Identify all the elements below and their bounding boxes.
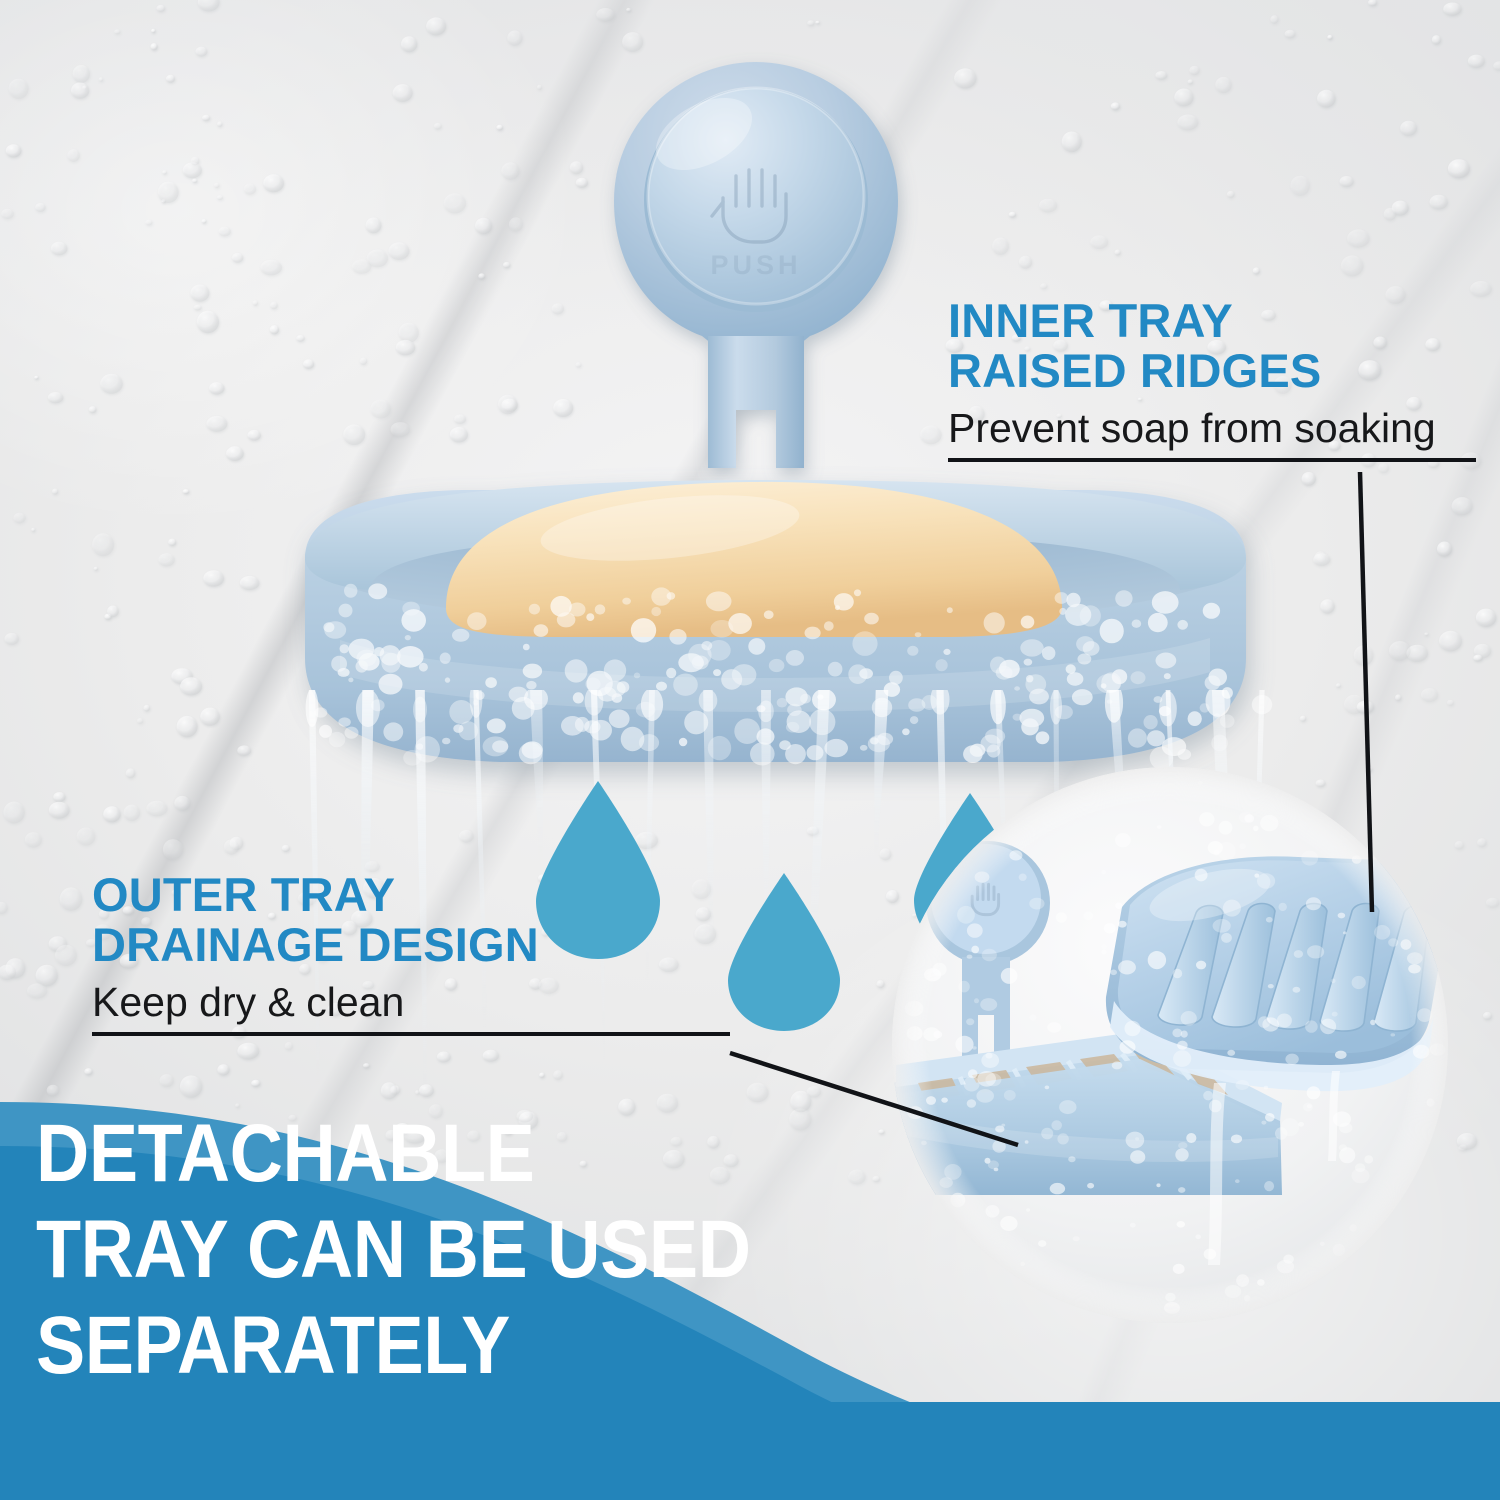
callout-outer-subtext: Keep dry & clean: [92, 978, 730, 1026]
water-drop-icon: [722, 868, 846, 1036]
infographic-canvas: PUSH: [0, 0, 1500, 1500]
svg-text:PUSH: PUSH: [710, 250, 801, 280]
callout-inner-heading-line1: INNER TRAY: [948, 296, 1476, 346]
callout-outer-tray: OUTER TRAY DRAINAGE DESIGN Keep dry & cl…: [92, 870, 730, 1036]
callout-inner-subtext: Prevent soap from soaking: [948, 404, 1476, 452]
callout-outer-heading-line2: DRAINAGE DESIGN: [92, 920, 730, 970]
banner-headline: DETACHABLE TRAY CAN BE USED SEPARATELY: [36, 1106, 936, 1394]
callout-inner-heading-line2: RAISED RIDGES: [948, 346, 1476, 396]
callout-inner-tray: INNER TRAY RAISED RIDGES Prevent soap fr…: [948, 296, 1476, 462]
banner-line-2: TRAY CAN BE USED: [36, 1202, 936, 1298]
banner-line-3: SEPARATELY: [36, 1298, 936, 1394]
bottom-banner: DETACHABLE TRAY CAN BE USED SEPARATELY: [0, 1050, 1500, 1500]
callout-outer-heading-line1: OUTER TRAY: [92, 870, 730, 920]
callout-outer-underline: [92, 1032, 730, 1036]
banner-line-1: DETACHABLE: [36, 1106, 936, 1202]
callout-inner-underline: [948, 458, 1476, 462]
